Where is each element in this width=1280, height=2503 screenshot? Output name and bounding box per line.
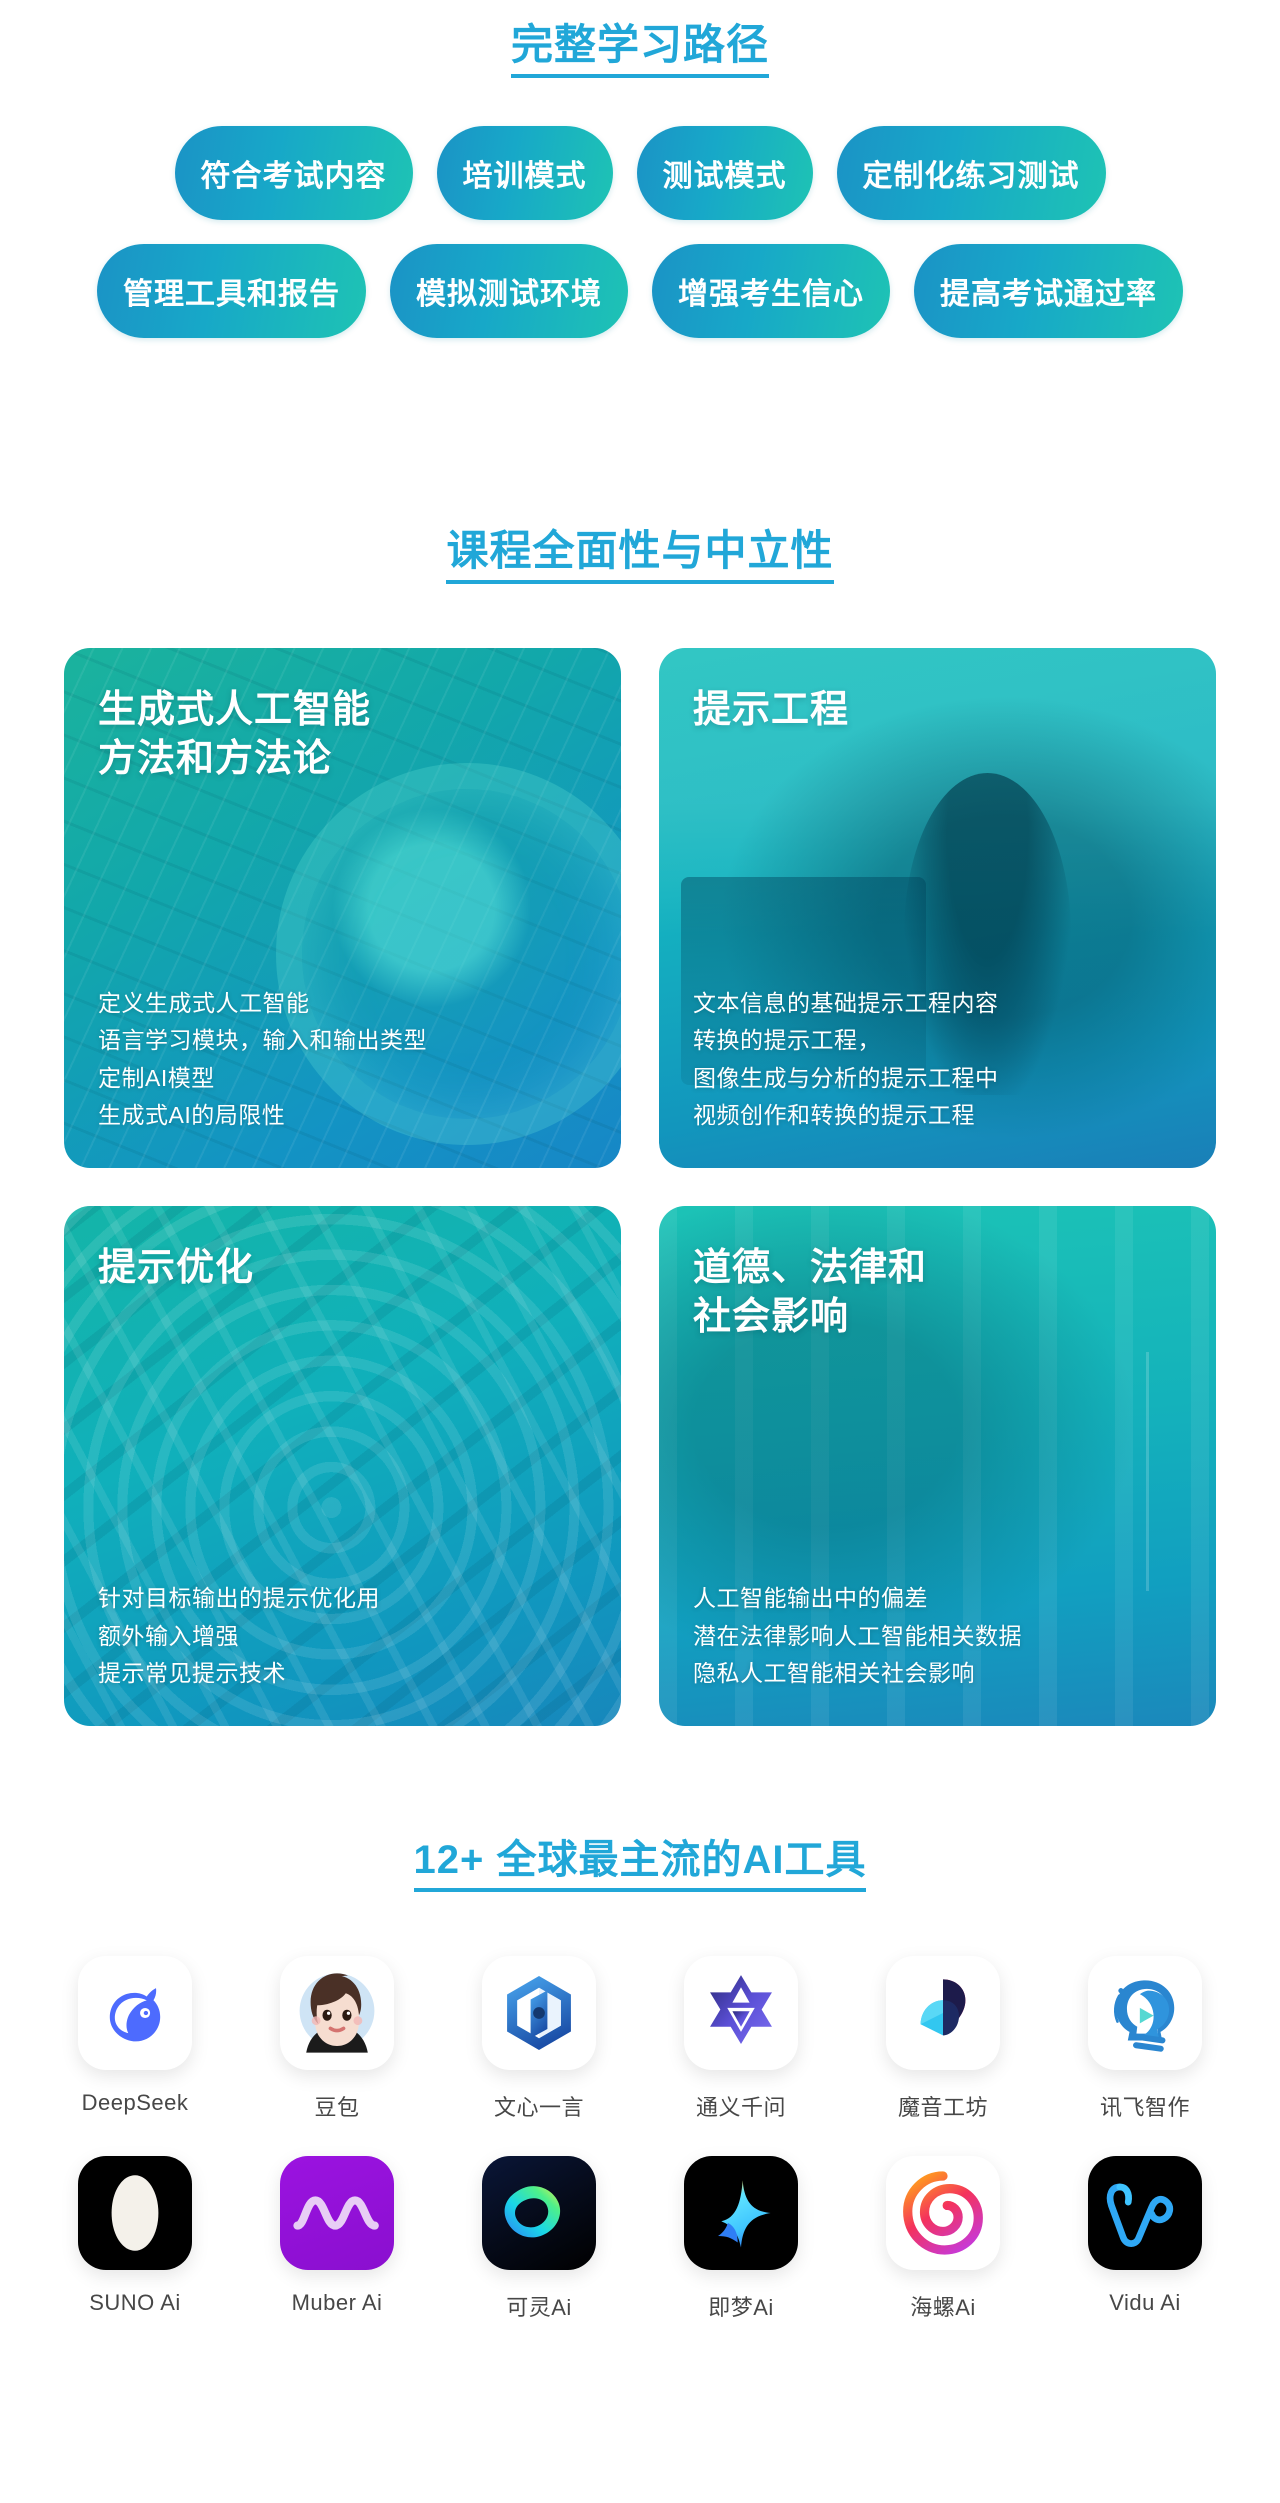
iflytek-tile[interactable] <box>1088 1956 1202 2070</box>
tool-item-suno[interactable]: SUNO Ai <box>34 2156 236 2322</box>
deepseek-tile[interactable] <box>78 1956 192 2070</box>
moyin-leaf-icon <box>903 1971 983 2055</box>
topic-card-body: 定义生成式人工智能 语言学习模块，输入和输出类型 定制AI模型 生成式AI的局限… <box>98 985 587 1134</box>
section-title-curriculum: 课程全面性与中立性 <box>0 528 1280 584</box>
curriculum-section: 课程全面性与中立性 生成式人工智能 方法和方法论 定义生成式人工智能 语言学习模… <box>0 528 1280 1726</box>
topic-card-title: 生成式人工智能 方法和方法论 <box>98 686 587 783</box>
tool-item-deepseek[interactable]: DeepSeek <box>34 1956 236 2122</box>
iflytek-head-icon <box>1102 1970 1188 2056</box>
kling-loop-icon <box>498 2172 580 2254</box>
topic-card-title: 提示工程 <box>693 686 1182 735</box>
doubao-tile[interactable] <box>280 1956 394 2070</box>
tool-label: Muber Ai <box>292 2290 383 2316</box>
tool-label: DeepSeek <box>82 2090 189 2116</box>
kling-tile[interactable] <box>482 2156 596 2270</box>
tool-label: 海螺Ai <box>910 2290 976 2322</box>
deepseek-whale-icon <box>93 1971 177 2055</box>
topic-card-body: 针对目标输出的提示优化用 额外输入增强 提示常见提示技术 <box>98 1580 587 1692</box>
topic-card-ethics-law-society[interactable]: 道德、法律和 社会影响 人工智能输出中的偏差 潜在法律影响人工智能相关数据 隐私… <box>659 1206 1216 1726</box>
ai-tools-grid: DeepSeek <box>0 1956 1280 2322</box>
moyin-tile[interactable] <box>886 1956 1000 2070</box>
tool-label: 可灵Ai <box>506 2290 572 2322</box>
topic-card-title: 道德、法律和 社会影响 <box>693 1244 1182 1341</box>
topic-card-prompt-optimization[interactable]: 提示优化 针对目标输出的提示优化用 额外输入增强 提示常见提示技术 <box>64 1206 621 1726</box>
jimeng-star-icon <box>700 2172 782 2254</box>
pill-row-1: 符合考试内容 培训模式 测试模式 定制化练习测试 <box>0 126 1280 220</box>
hailuo-tile[interactable] <box>886 2156 1000 2270</box>
tool-item-ernie[interactable]: 文心一言 <box>438 1956 640 2122</box>
tool-label: 通义千问 <box>696 2090 786 2122</box>
muber-tile[interactable] <box>280 2156 394 2270</box>
pill-simulated-test-environment[interactable]: 模拟测试环境 <box>390 244 628 338</box>
section-title-ai-tools-text: 12+ 全球最主流的AI工具 <box>414 1838 867 1892</box>
topic-card-genai-methods[interactable]: 生成式人工智能 方法和方法论 定义生成式人工智能 语言学习模块，输入和输出类型 … <box>64 648 621 1168</box>
tool-label: Vidu Ai <box>1109 2290 1181 2316</box>
topic-card-prompt-engineering[interactable]: 提示工程 文本信息的基础提示工程内容 转换的提示工程， 图像生成与分析的提示工程… <box>659 648 1216 1168</box>
tool-item-jimeng[interactable]: 即梦Ai <box>640 2156 842 2322</box>
tool-item-doubao[interactable]: 豆包 <box>236 1956 438 2122</box>
section-title-learning-path-text: 完整学习路径 <box>511 22 769 78</box>
pill-boost-confidence[interactable]: 增强考生信心 <box>652 244 890 338</box>
tool-label: 文心一言 <box>494 2090 584 2122</box>
vidu-tile[interactable] <box>1088 2156 1202 2270</box>
topic-card-body: 文本信息的基础提示工程内容 转换的提示工程， 图像生成与分析的提示工程中 视频创… <box>693 985 1182 1134</box>
section-title-curriculum-text: 课程全面性与中立性 <box>446 528 833 584</box>
learning-path-section: 完整学习路径 符合考试内容 培训模式 测试模式 定制化练习测试 管理工具和报告 … <box>0 22 1280 338</box>
ernie-tile[interactable] <box>482 1956 596 2070</box>
tool-label: 讯飞智作 <box>1100 2090 1190 2122</box>
tool-label: SUNO Ai <box>89 2290 181 2316</box>
curriculum-cards-grid: 生成式人工智能 方法和方法论 定义生成式人工智能 语言学习模块，输入和输出类型 … <box>0 648 1280 1726</box>
pill-row-2: 管理工具和报告 模拟测试环境 增强考生信心 提高考试通过率 <box>0 244 1280 338</box>
tool-label: 魔音工坊 <box>898 2090 988 2122</box>
doubao-avatar-icon <box>282 1958 392 2068</box>
section-title-ai-tools: 12+ 全球最主流的AI工具 <box>0 1838 1280 1892</box>
pill-test-mode[interactable]: 测试模式 <box>637 126 813 220</box>
tool-item-tongyi[interactable]: 通义千问 <box>640 1956 842 2122</box>
tool-label: 即梦Ai <box>708 2290 774 2322</box>
tool-item-moyin[interactable]: 魔音工坊 <box>842 1956 1044 2122</box>
pill-improve-pass-rate[interactable]: 提高考试通过率 <box>914 244 1183 338</box>
ai-tools-section: 12+ 全球最主流的AI工具 DeepSeek <box>0 1838 1280 2322</box>
muber-wave-icon <box>292 2183 382 2243</box>
tool-label: 豆包 <box>314 2090 359 2122</box>
tool-item-kling[interactable]: 可灵Ai <box>438 2156 640 2322</box>
tongyi-tile[interactable] <box>684 1956 798 2070</box>
jimeng-tile[interactable] <box>684 2156 798 2270</box>
section-title-learning-path: 完整学习路径 <box>0 22 1280 78</box>
pill-training-mode[interactable]: 培训模式 <box>437 126 613 220</box>
ernie-bot-cube-icon <box>497 1971 581 2055</box>
hailuo-spiral-icon <box>901 2171 985 2255</box>
tool-item-muber[interactable]: Muber Ai <box>236 2156 438 2322</box>
pill-exam-content[interactable]: 符合考试内容 <box>175 126 413 220</box>
promo-page: 完整学习路径 符合考试内容 培训模式 测试模式 定制化练习测试 管理工具和报告 … <box>0 0 1280 2503</box>
topic-card-body: 人工智能输出中的偏差 潜在法律影响人工智能相关数据 隐私人工智能相关社会影响 <box>693 1580 1182 1692</box>
pill-custom-practice-test[interactable]: 定制化练习测试 <box>837 126 1106 220</box>
tongyi-qianwen-star-icon <box>698 1970 784 2056</box>
topic-card-title: 提示优化 <box>98 1244 587 1293</box>
pill-management-tools-reports[interactable]: 管理工具和报告 <box>97 244 366 338</box>
tool-item-hailuo[interactable]: 海螺Ai <box>842 2156 1044 2322</box>
suno-tile[interactable] <box>78 2156 192 2270</box>
vidu-loop-icon <box>1103 2175 1187 2251</box>
tool-item-vidu[interactable]: Vidu Ai <box>1044 2156 1246 2322</box>
suno-wave-icon <box>97 2168 173 2258</box>
tool-item-iflytek[interactable]: 讯飞智作 <box>1044 1956 1246 2122</box>
